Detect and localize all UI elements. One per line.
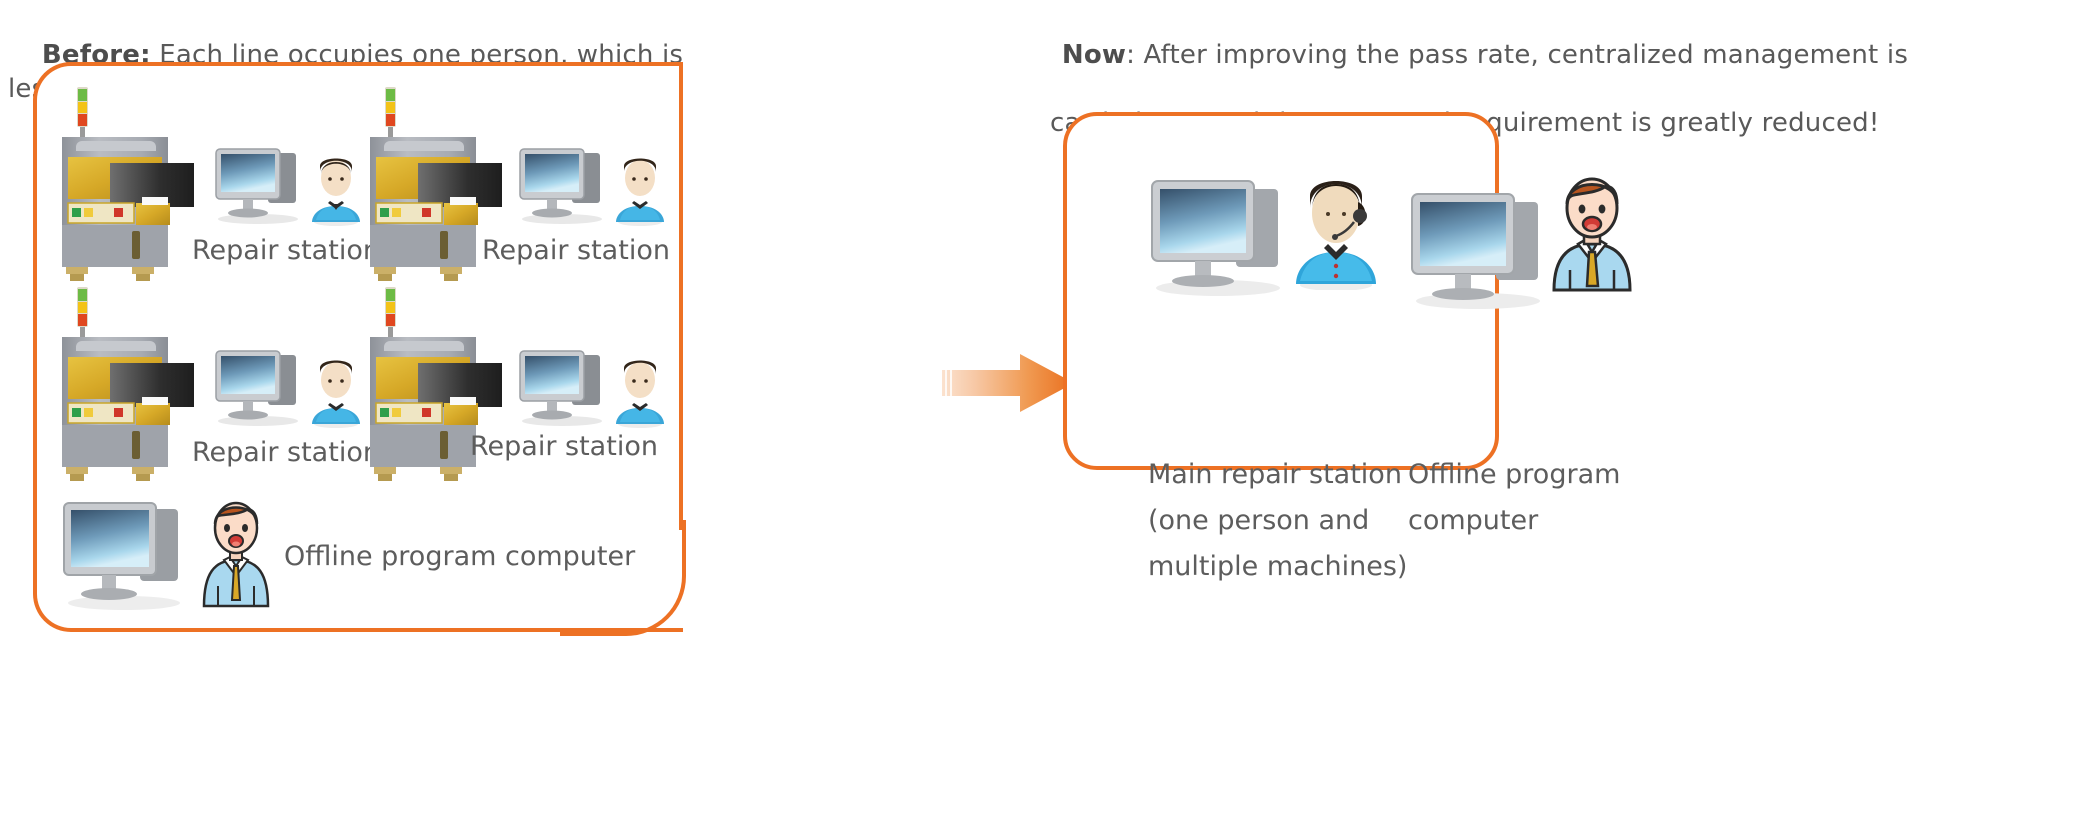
offline-programmer-person-icon [196,490,276,612]
monitor-icon [212,143,308,225]
monitor-icon [516,143,612,225]
station-label-3: Repair station [192,434,380,472]
operator-person-icon [308,148,364,226]
operator-person-icon [308,350,364,428]
now-offline-computer-label: Offline program computer [1408,452,1648,544]
operator-person-icon [612,350,668,428]
now-header-lead: Now [1062,40,1126,70]
now-offline-monitor-icon [1408,188,1558,310]
station-label-1: Repair station [192,232,380,270]
station-label-4: Repair station [470,428,658,466]
operator-person-icon [612,148,668,226]
slide-canvas: Before: Each line occupies one person, w… [0,0,2073,829]
main-repair-station-label: Main repair station (one person and mult… [1148,452,1408,590]
main-station-monitor-icon [1148,175,1298,297]
offline-monitor-icon [60,495,196,611]
repair-machine-icon [62,285,194,485]
before-panel-border-right [679,200,683,530]
monitor-icon [212,345,308,427]
monitor-icon [516,345,612,427]
now-header-line1: : After improving the pass rate, central… [1126,40,1908,70]
before-panel-border-top-right [679,62,683,212]
transition-arrow-icon [942,352,1074,414]
now-offline-programmer-icon [1544,172,1640,294]
main-station-operator-icon [1288,168,1384,290]
station-label-2: Repair station [482,232,670,270]
offline-computer-label: Offline program computer [284,538,635,576]
repair-machine-icon [62,85,194,285]
